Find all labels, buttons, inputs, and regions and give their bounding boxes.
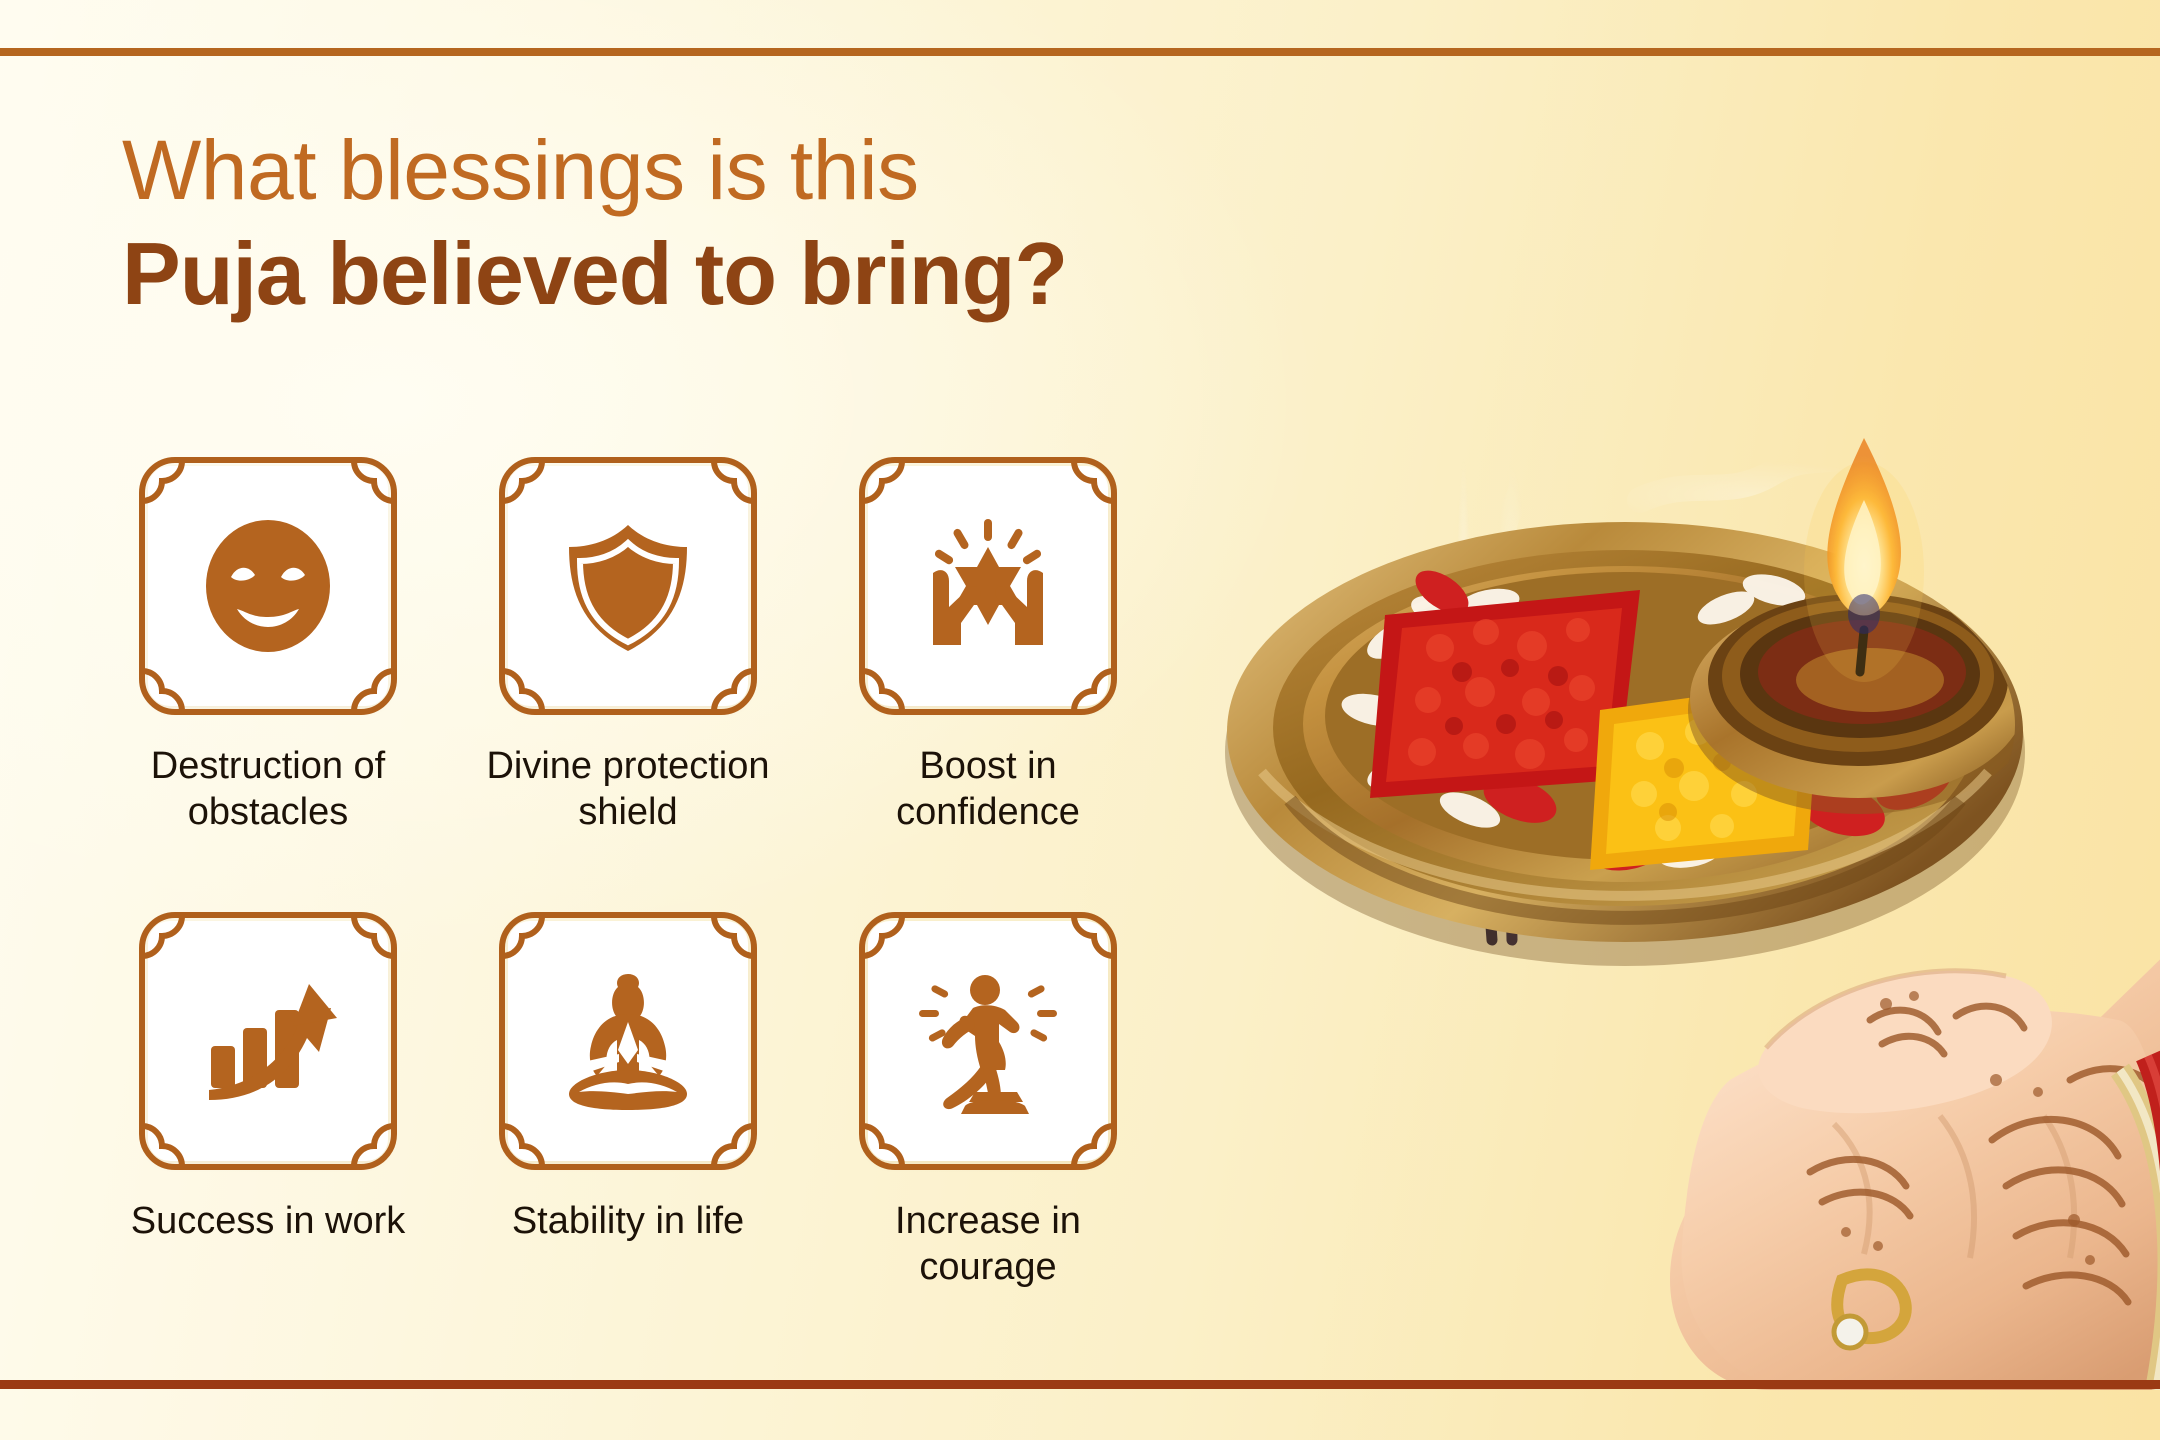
diya-flame (1804, 438, 1924, 682)
benefit-item-increase-in-courage[interactable]: Increase in courage (808, 910, 1168, 1365)
benefit-label: Increase in courage (823, 1198, 1153, 1291)
benefit-item-success-in-work[interactable]: Success in work (88, 910, 448, 1365)
page-title: What blessings is this Puja believed to … (122, 128, 1402, 321)
hand-holding-puja-thali-photo (1170, 380, 2160, 1390)
page-title-line-1: What blessings is this (122, 128, 1402, 214)
smiling-face-icon (193, 511, 343, 661)
page-title-line-2: Puja believed to bring? (122, 226, 1402, 321)
benefit-item-divine-protection-shield[interactable]: Divine protection shield (448, 455, 808, 910)
benefit-label: Divine protection shield (463, 743, 793, 836)
benefit-label: Success in work (103, 1198, 433, 1244)
henna-hand (1670, 940, 2160, 1390)
benefit-icon-card (137, 455, 399, 717)
benefit-icon-card (857, 455, 1119, 717)
shield-icon (553, 511, 703, 661)
benefit-icon-card (497, 455, 759, 717)
benefit-label: Stability in life (463, 1198, 793, 1244)
hands-holding-star-icon (913, 511, 1063, 661)
benefit-icon-card (857, 910, 1119, 1172)
benefits-grid: Destruction of obstacles (88, 455, 1168, 1365)
top-divider-rule (0, 48, 2160, 56)
bottom-divider-rule (0, 1380, 2160, 1389)
benefit-item-stability-in-life[interactable]: Stability in life (448, 910, 808, 1365)
benefit-icon-card (497, 910, 759, 1172)
benefit-label: Destruction of obstacles (103, 743, 433, 836)
infographic-canvas: What blessings is this Puja believed to … (0, 0, 2160, 1440)
growth-chart-arrow-icon (193, 966, 343, 1116)
benefit-icon-card (137, 910, 399, 1172)
benefit-label: Boost in confidence (823, 743, 1153, 836)
benefit-item-destruction-of-obstacles[interactable]: Destruction of obstacles (88, 455, 448, 910)
benefit-item-boost-in-confidence[interactable]: Boost in confidence (808, 455, 1168, 910)
meditation-lotus-icon (553, 966, 703, 1116)
confident-person-icon (913, 966, 1063, 1116)
